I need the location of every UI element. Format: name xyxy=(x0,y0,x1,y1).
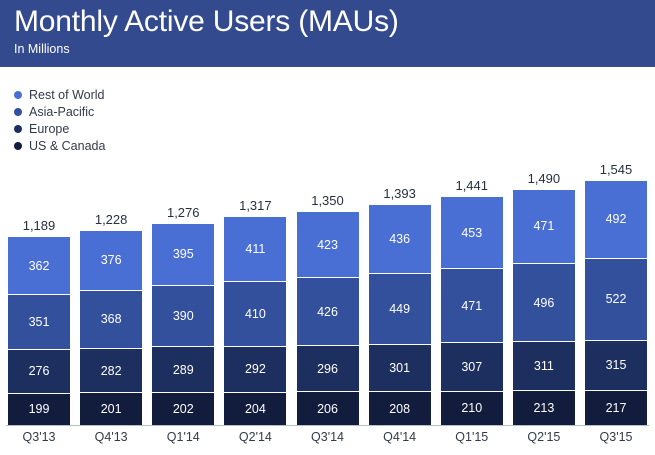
bar-segment[interactable]: 199 xyxy=(8,394,70,425)
chart-header-band: Monthly Active Users (MAUs) In Millions xyxy=(0,0,655,67)
bar-total-label: 1,189 xyxy=(23,218,56,233)
bar-segment-value-label: 522 xyxy=(606,292,627,306)
bar-segment-value-label: 395 xyxy=(173,247,194,261)
bar-stack: 423426296206 xyxy=(297,212,359,425)
bar-segment-value-label: 276 xyxy=(29,364,50,378)
bar-segment[interactable]: 206 xyxy=(297,392,359,425)
bar-stack: 395390289202 xyxy=(152,224,214,425)
bar-group[interactable]: 1,228376368282201 xyxy=(80,155,142,425)
x-axis-label: Q1'14 xyxy=(152,430,214,444)
page-title: Monthly Active Users (MAUs) xyxy=(14,4,655,40)
bar-segment-value-label: 217 xyxy=(606,401,627,415)
bar-segment-value-label: 206 xyxy=(317,402,338,416)
bar-segment-value-label: 426 xyxy=(317,305,338,319)
bar-group[interactable]: 1,276395390289202 xyxy=(152,155,214,425)
x-axis-label: Q1'15 xyxy=(441,430,503,444)
bar-total-label: 1,228 xyxy=(95,212,128,227)
bar-segment[interactable]: 301 xyxy=(369,345,431,393)
bar-segment-value-label: 301 xyxy=(389,361,410,375)
bar-total-label: 1,350 xyxy=(311,193,344,208)
bar-segment-value-label: 289 xyxy=(173,363,194,377)
bar-total-label: 1,276 xyxy=(167,205,200,220)
bar-stack: 411410292204 xyxy=(224,217,286,425)
bar-group[interactable]: 1,490471496311213 xyxy=(513,155,575,425)
bar-group[interactable]: 1,393436449301208 xyxy=(369,155,431,425)
legend-swatch-icon xyxy=(14,142,22,150)
bar-segment[interactable]: 423 xyxy=(297,212,359,279)
bar-segment[interactable]: 492 xyxy=(585,181,647,259)
bar-stack: 453471307210 xyxy=(441,197,503,425)
x-axis-label: Q4'14 xyxy=(369,430,431,444)
bar-segment-value-label: 390 xyxy=(173,309,194,323)
legend-swatch-icon xyxy=(14,91,22,99)
bar-segment-value-label: 282 xyxy=(101,364,122,378)
bar-group[interactable]: 1,189362351276199 xyxy=(8,155,70,425)
bar-total-label: 1,545 xyxy=(600,162,633,177)
legend-item-label: Asia-Pacific xyxy=(29,105,94,119)
bar-group[interactable]: 1,317411410292204 xyxy=(224,155,286,425)
bar-segment-value-label: 471 xyxy=(533,219,554,233)
bar-segment-value-label: 208 xyxy=(389,402,410,416)
bar-stack: 376368282201 xyxy=(80,231,142,425)
bar-segment[interactable]: 276 xyxy=(8,350,70,394)
x-axis-label: Q3'15 xyxy=(585,430,647,444)
bar-segment[interactable]: 315 xyxy=(585,341,647,391)
bar-segment[interactable]: 395 xyxy=(152,224,214,286)
bar-segment[interactable]: 390 xyxy=(152,286,214,348)
bar-segment[interactable]: 282 xyxy=(80,349,142,394)
bar-segment-value-label: 411 xyxy=(245,242,265,256)
bar-stack: 471496311213 xyxy=(513,190,575,425)
bar-segment-value-label: 368 xyxy=(101,312,122,326)
bar-segment-value-label: 496 xyxy=(533,296,554,310)
legend-swatch-icon xyxy=(14,125,22,133)
bar-segment[interactable]: 311 xyxy=(513,342,575,391)
bar-segment-value-label: 311 xyxy=(534,359,554,373)
bar-segment[interactable]: 522 xyxy=(585,259,647,341)
bar-segment[interactable]: 217 xyxy=(585,391,647,425)
bar-series-container: 1,1893623512761991,2283763682822011,2763… xyxy=(8,155,647,425)
bar-segment[interactable]: 210 xyxy=(441,392,503,425)
bar-segment[interactable]: 471 xyxy=(441,269,503,343)
bar-segment[interactable]: 426 xyxy=(297,278,359,345)
bar-segment-value-label: 315 xyxy=(606,358,627,372)
x-axis-tick-labels: Q3'13Q4'13Q1'14Q2'14Q3'14Q4'14Q1'15Q2'15… xyxy=(8,430,647,444)
chart-legend: Rest of WorldAsia-PacificEuropeUS & Cana… xyxy=(14,86,214,154)
bar-segment[interactable]: 201 xyxy=(80,393,142,425)
bar-segment[interactable]: 471 xyxy=(513,190,575,264)
legend-swatch-icon xyxy=(14,108,22,116)
legend-item-label: Rest of World xyxy=(29,88,105,102)
x-axis-label: Q3'14 xyxy=(297,430,359,444)
chart-plot-area: 1,1893623512761991,2283763682822011,2763… xyxy=(0,155,655,425)
bar-segment[interactable]: 368 xyxy=(80,291,142,349)
legend-item[interactable]: US & Canada xyxy=(14,137,214,154)
bar-segment-value-label: 213 xyxy=(533,401,554,415)
bar-group[interactable]: 1,441453471307210 xyxy=(441,155,503,425)
bar-segment-value-label: 202 xyxy=(173,402,194,416)
bar-group[interactable]: 1,350423426296206 xyxy=(297,155,359,425)
bar-segment[interactable]: 208 xyxy=(369,392,431,425)
bar-total-label: 1,490 xyxy=(528,171,561,186)
bar-segment-value-label: 410 xyxy=(245,307,266,321)
bar-stack: 362351276199 xyxy=(8,237,70,425)
bar-group[interactable]: 1,545492522315217 xyxy=(585,155,647,425)
bar-total-label: 1,441 xyxy=(455,178,488,193)
bar-segment-value-label: 453 xyxy=(461,226,482,240)
legend-item-label: US & Canada xyxy=(29,139,105,153)
legend-item[interactable]: Asia-Pacific xyxy=(14,103,214,120)
chart-subtitle: In Millions xyxy=(14,41,655,57)
bar-segment-value-label: 423 xyxy=(317,238,338,252)
bar-total-label: 1,393 xyxy=(383,186,416,201)
x-axis-label: Q3'13 xyxy=(8,430,70,444)
bar-segment[interactable]: 411 xyxy=(224,217,286,282)
bar-segment-value-label: 376 xyxy=(101,253,122,267)
bar-segment[interactable]: 436 xyxy=(369,205,431,274)
bar-segment[interactable]: 496 xyxy=(513,264,575,342)
bar-segment-value-label: 204 xyxy=(245,402,266,416)
bar-stack: 492522315217 xyxy=(585,181,647,425)
bar-segment-value-label: 436 xyxy=(389,232,410,246)
bar-segment[interactable]: 213 xyxy=(513,391,575,425)
bar-total-label: 1,317 xyxy=(239,198,272,213)
bar-segment-value-label: 362 xyxy=(29,259,50,273)
bar-segment[interactable]: 204 xyxy=(224,393,286,425)
bar-stack: 436449301208 xyxy=(369,205,431,425)
bar-segment-value-label: 296 xyxy=(317,362,338,376)
bar-segment[interactable]: 307 xyxy=(441,343,503,391)
bar-segment-value-label: 471 xyxy=(461,299,482,313)
legend-item-label: Europe xyxy=(29,122,69,136)
bar-segment-value-label: 292 xyxy=(245,362,266,376)
legend-item[interactable]: Europe xyxy=(14,120,214,137)
bar-segment[interactable]: 376 xyxy=(80,231,142,290)
legend-item[interactable]: Rest of World xyxy=(14,86,214,103)
x-axis-label: Q2'15 xyxy=(513,430,575,444)
bar-segment-value-label: 492 xyxy=(606,212,627,226)
bar-segment[interactable]: 351 xyxy=(8,295,70,350)
x-axis-label: Q4'13 xyxy=(80,430,142,444)
x-axis-label: Q2'14 xyxy=(224,430,286,444)
x-axis-line xyxy=(6,425,649,426)
bar-segment[interactable]: 296 xyxy=(297,346,359,393)
bar-segment-value-label: 351 xyxy=(29,315,50,329)
bar-segment-value-label: 199 xyxy=(29,402,50,416)
bar-segment[interactable]: 289 xyxy=(152,347,214,393)
bar-segment-value-label: 201 xyxy=(101,402,122,416)
bar-segment[interactable]: 362 xyxy=(8,237,70,294)
bar-segment-value-label: 307 xyxy=(461,360,482,374)
bar-segment[interactable]: 202 xyxy=(152,393,214,425)
bar-segment[interactable]: 292 xyxy=(224,347,286,393)
bar-segment[interactable]: 449 xyxy=(369,274,431,345)
bar-segment-value-label: 210 xyxy=(461,401,482,415)
bar-segment[interactable]: 453 xyxy=(441,197,503,269)
bar-segment[interactable]: 410 xyxy=(224,282,286,347)
bar-segment-value-label: 449 xyxy=(389,302,410,316)
